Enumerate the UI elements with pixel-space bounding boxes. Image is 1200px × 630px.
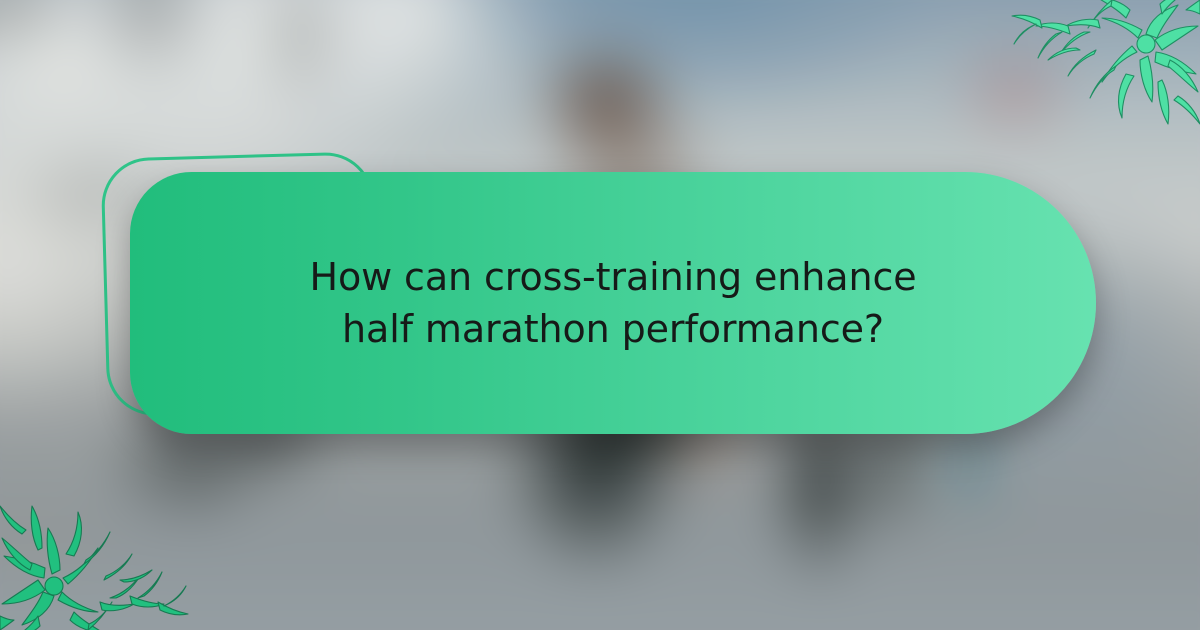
question-card: How can cross-training enhance half mara… [130, 172, 1096, 434]
share-card-canvas: How can cross-training enhance half mara… [0, 0, 1200, 630]
question-title: How can cross-training enhance half mara… [293, 251, 933, 356]
